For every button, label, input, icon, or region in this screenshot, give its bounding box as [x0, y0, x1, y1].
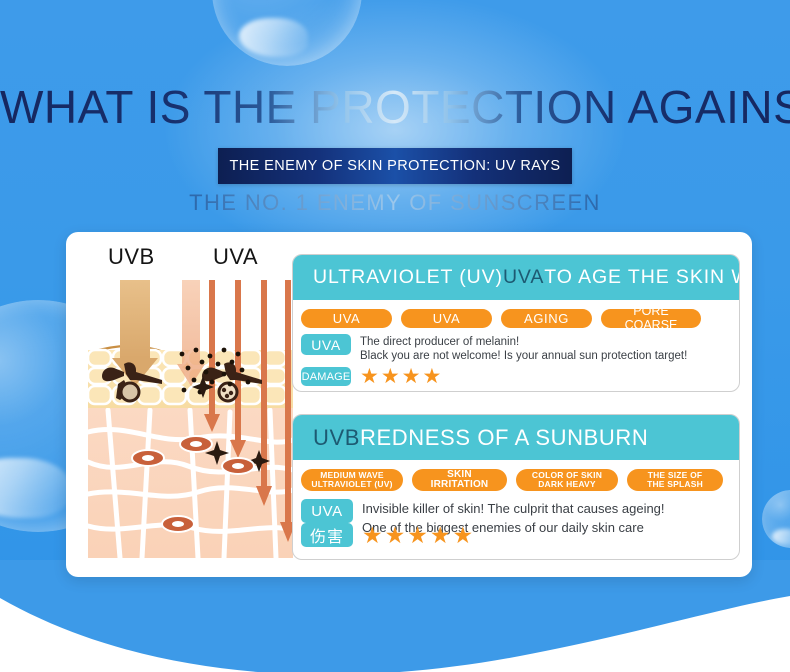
- diagram-label-uva: UVA: [213, 244, 258, 270]
- pill-uva-3[interactable]: PORE COARSE: [601, 309, 701, 328]
- hero-badge: THE ENEMY OF SKIN PROTECTION: UV RAYS: [218, 148, 572, 184]
- diagram-label-uvb: UVB: [108, 244, 155, 270]
- panel-uva-pill-row: UVA UVA AGING PORE COARSE: [293, 300, 739, 332]
- pill-uva-0[interactable]: UVA: [301, 309, 392, 328]
- pill-uvb-1[interactable]: SKIN IRRITATION: [412, 469, 507, 491]
- page-root: WHAT IS THE PROTECTION AGAINST THE ENEMY…: [0, 0, 790, 672]
- panel-uva-header-accent: UVA: [503, 266, 544, 289]
- rating-stars-uvb: ★★★★★: [362, 524, 475, 547]
- panel-uva-header-part1: ULTRAVIOLET (UV): [313, 266, 503, 289]
- panel-uva-body-line1: The direct producer of melanin!: [360, 335, 687, 349]
- panel-uva-info: UVA The direct producer of melanin! Blac…: [293, 332, 739, 387]
- panel-uva-header: ULTRAVIOLET (UV)UVATO AGE THE SKIN WITH …: [293, 255, 739, 300]
- tag-uva-type: UVA: [301, 334, 351, 355]
- panel-uvb-header-part2: REDNESS OF A SUNBURN: [360, 425, 648, 451]
- panel-uva-row-damage: DAMAGE ★★★★: [301, 366, 739, 387]
- tag-uvb-damage: 伤害: [301, 523, 353, 547]
- pill-uvb-3-line2: THE SPLASH: [647, 480, 703, 489]
- pill-uva-1-label: UVA: [433, 312, 461, 326]
- panel-uvb-header: UVBREDNESS OF A SUNBURN: [293, 415, 739, 460]
- hero-badge-label: THE ENEMY OF SKIN PROTECTION: UV RAYS: [230, 158, 561, 174]
- pill-uvb-2-line2: DARK HEAVY: [532, 480, 602, 489]
- pill-uvb-0[interactable]: MEDIUM WAVE ULTRAVIOLET (UV): [301, 469, 403, 491]
- hero-subtitle: THE NO. 1 ENEMY OF SUNSCREEN: [0, 190, 790, 216]
- panel-uvb-pill-row: MEDIUM WAVE ULTRAVIOLET (UV) SKIN IRRITA…: [293, 460, 739, 495]
- skin-cross-section-illustration: [78, 280, 308, 562]
- panel-uvb-header-accent: UVB: [313, 425, 360, 451]
- panel-uvb-info: UVA Invisible killer of skin! The culpri…: [293, 495, 739, 547]
- pill-uva-2-label: AGING: [524, 312, 569, 326]
- panel-uva-header-part2: TO AGE THE SKIN WITH A TAN: [544, 266, 739, 289]
- pill-uva-2[interactable]: AGING: [501, 309, 592, 328]
- panel-uva: ULTRAVIOLET (UV)UVATO AGE THE SKIN WITH …: [292, 254, 740, 392]
- pill-uvb-0-line2: ULTRAVIOLET (UV): [311, 480, 392, 489]
- pill-uva-1[interactable]: UVA: [401, 309, 492, 328]
- content-card: UVB UVA: [66, 232, 752, 577]
- pill-uva-3-label: PORE COARSE: [611, 305, 691, 331]
- tag-uvb-type: UVA: [301, 499, 353, 523]
- panel-uva-row-description: UVA The direct producer of melanin! Blac…: [301, 334, 739, 363]
- pill-uvb-2[interactable]: COLOR OF SKIN DARK HEAVY: [516, 469, 618, 491]
- panel-uva-body: The direct producer of melanin! Black yo…: [360, 335, 687, 363]
- panel-uvb-body-line1: Invisible killer of skin! The culprit th…: [362, 499, 665, 518]
- rating-stars-uva: ★★★★: [360, 366, 443, 387]
- panel-uva-body-line2: Black you are not welcome! Is your annua…: [360, 349, 687, 363]
- pill-uvb-1-label: SKIN IRRITATION: [420, 470, 499, 491]
- panel-uvb: UVBREDNESS OF A SUNBURN MEDIUM WAVE ULTR…: [292, 414, 740, 560]
- pill-uva-0-label: UVA: [333, 312, 361, 326]
- page-title: WHAT IS THE PROTECTION AGAINST: [0, 78, 790, 136]
- tag-uva-damage: DAMAGE: [301, 367, 351, 386]
- pill-uvb-3[interactable]: THE SIZE OF THE SPLASH: [627, 469, 723, 491]
